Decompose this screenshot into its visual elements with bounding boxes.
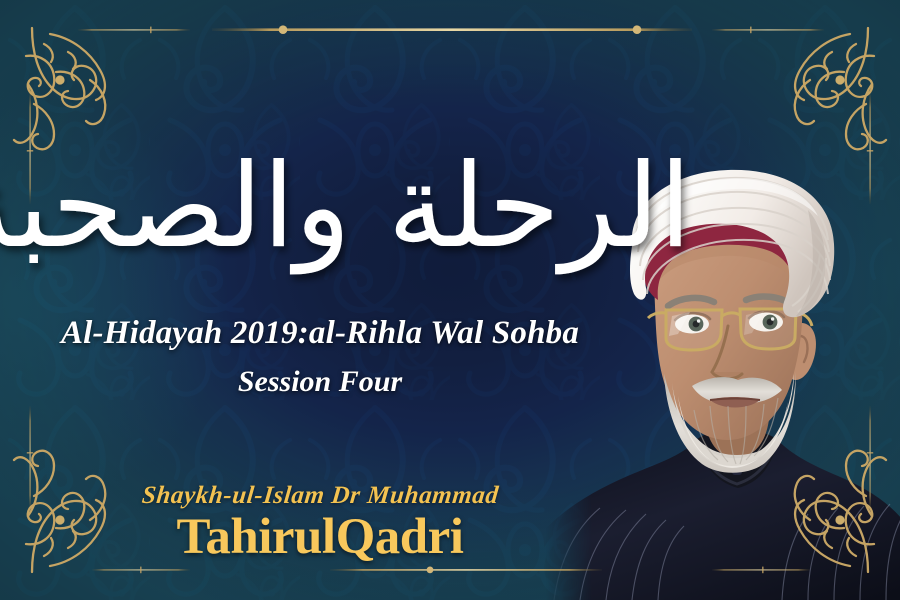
event-title-line-2: Session Four xyxy=(0,365,640,399)
event-title-block: Al-Hidayah 2019:al-Rihla Wal Sohba Sessi… xyxy=(0,316,640,399)
arabic-calligraphy: الرحلة والصحبة xyxy=(18,98,628,298)
speaker-name: TahirulQadri xyxy=(0,512,640,563)
event-poster: الرحلة والصحبة Al-Hidayah 2019:al-Rihla … xyxy=(0,0,900,600)
speaker-name-block: Shaykh-ul-Islam Dr Muhammad TahirulQadri xyxy=(0,482,640,563)
speaker-title-prefix: Shaykh-ul-Islam Dr Muhammad xyxy=(140,482,500,510)
event-title-line-1: Al-Hidayah 2019:al-Rihla Wal Sohba xyxy=(0,316,640,351)
arabic-calligraphy-text: الرحلة والصحبة xyxy=(0,139,692,275)
